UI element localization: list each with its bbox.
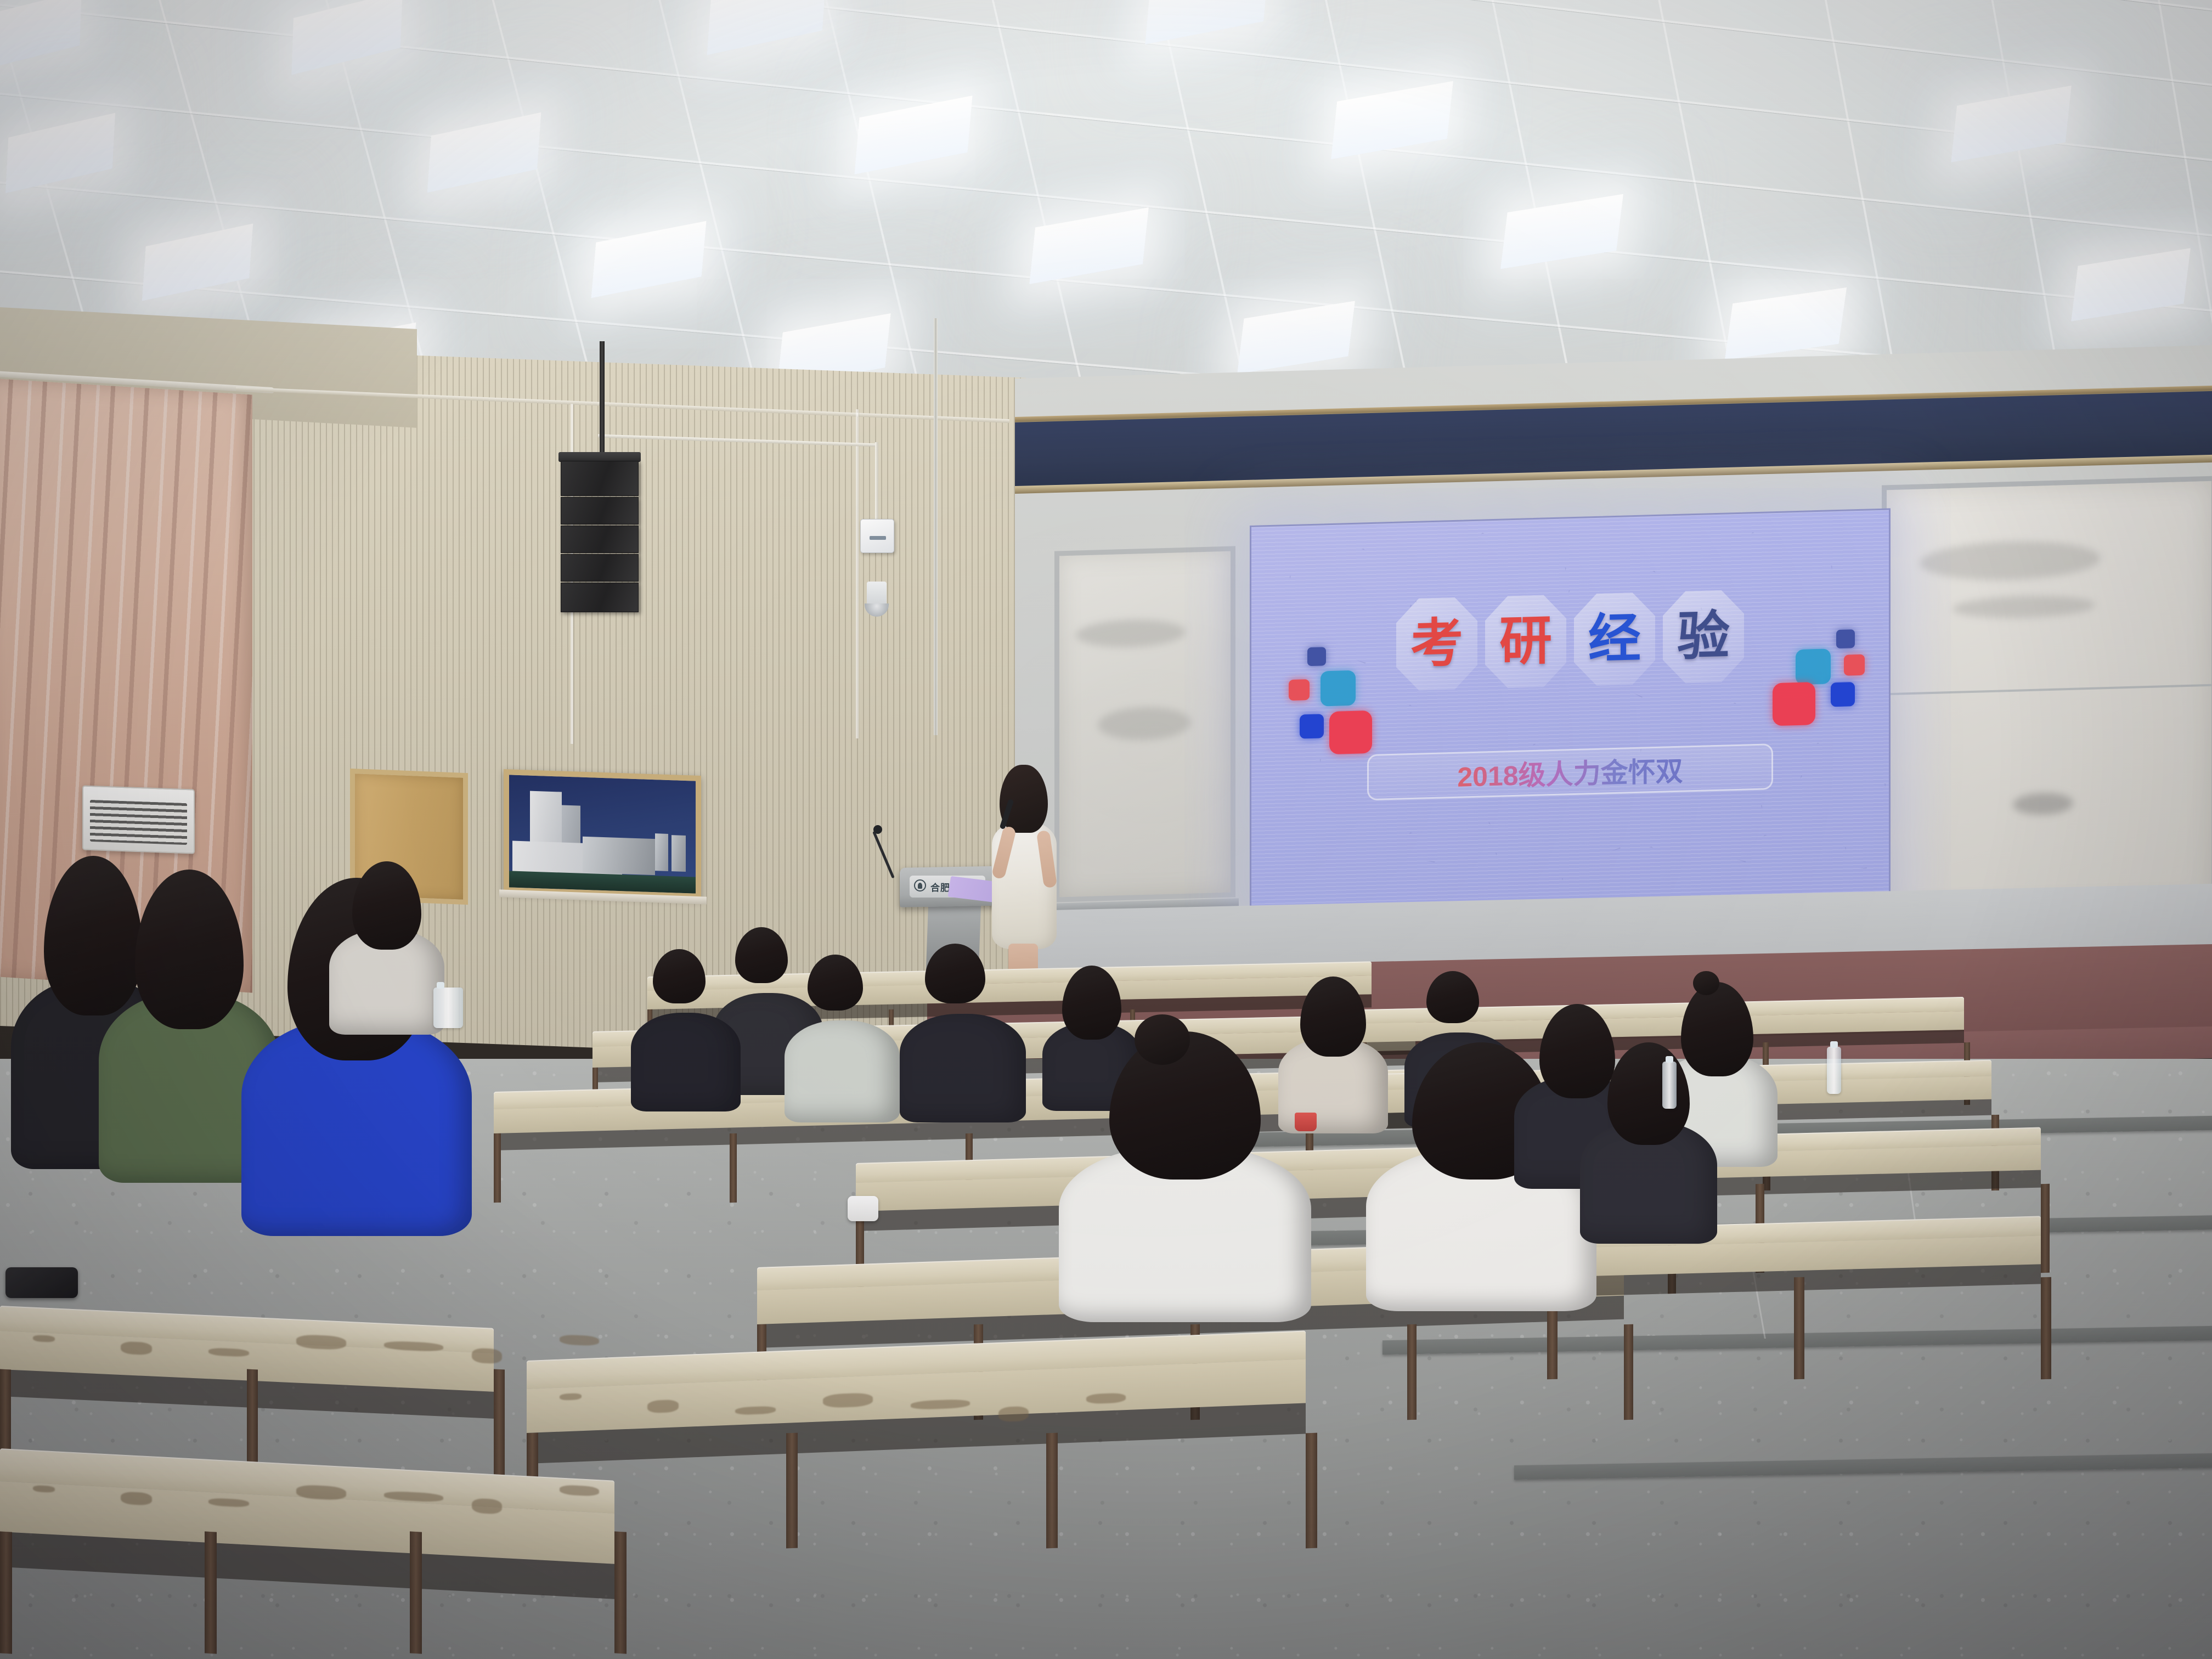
audience-member (329, 861, 444, 1031)
screen-deco-square (1300, 714, 1324, 738)
screen-deco-square (1289, 679, 1310, 701)
desk-leg (1624, 1324, 1633, 1420)
audience-head (1426, 971, 1479, 1023)
whiteboard-smudge (1076, 618, 1186, 649)
audience-head (735, 927, 788, 983)
desk-wear-mark (998, 1406, 1029, 1422)
desk-leg (786, 1433, 798, 1549)
microphone-head-icon (873, 825, 882, 834)
screen-title-hex-3: 经 (1574, 592, 1655, 686)
audience-member (1059, 1031, 1311, 1317)
screen-deco-square (1796, 648, 1831, 685)
audience-member (900, 944, 1026, 1119)
line-array-speaker (561, 461, 642, 614)
desk-leg (730, 1133, 737, 1203)
desk-leg (1046, 1433, 1058, 1549)
water-bottle (1662, 1062, 1677, 1109)
screen-deco-square (1844, 654, 1865, 676)
desk-leg (614, 1531, 627, 1654)
smartphone (5, 1267, 78, 1298)
wifi-access-point (860, 519, 894, 553)
desk-leg (494, 1369, 505, 1479)
audience-head (1607, 1042, 1690, 1145)
projection-screen[interactable]: 考研经验 2018级人力金怀双 (1250, 508, 1891, 932)
audience-torso (900, 1014, 1026, 1122)
building-block (583, 837, 655, 875)
audience-head (352, 861, 421, 950)
university-logo-icon (914, 879, 926, 891)
desk-leg (410, 1531, 422, 1654)
lecture-hall-photo: 考研经验 2018级人力金怀双 合肥工业大学 (0, 0, 2212, 1659)
screen-deco-square (1321, 670, 1356, 707)
speaker-module (561, 583, 639, 612)
screen-deco-square (1831, 682, 1855, 707)
hair-bun (1693, 971, 1719, 995)
whiteboard-smudge (1920, 539, 2101, 582)
speaker-module (561, 461, 639, 496)
audience-member (1580, 1042, 1717, 1240)
audience-member (785, 955, 900, 1119)
speaker-module (561, 554, 639, 582)
framed-campus-photo (504, 769, 701, 899)
screen-title-char: 验 (1677, 610, 1730, 664)
glass-jar (433, 988, 463, 1028)
screen-title-char: 研 (1499, 614, 1552, 669)
ceiling-drop-pole (934, 318, 938, 735)
whiteboard-smudge (1098, 706, 1191, 742)
desk-leg (2041, 1277, 2051, 1379)
speaker-module (561, 526, 639, 553)
screen-title-hex-2: 研 (1485, 594, 1566, 689)
screen-decoration-left (1283, 645, 1387, 769)
whiteboard-left (1054, 546, 1235, 902)
desk-wear-mark (472, 1498, 502, 1515)
desk-leg (1407, 1324, 1417, 1420)
audience-head (1300, 977, 1366, 1057)
desk-leg (1306, 1433, 1317, 1549)
screen-deco-square (1836, 629, 1855, 648)
audience-head (1062, 966, 1121, 1040)
desk-leg (1794, 1277, 1804, 1379)
screen-deco-square (1329, 710, 1372, 754)
audience-head (653, 949, 706, 1003)
paper-cup (1295, 1113, 1317, 1131)
audience-head (808, 955, 863, 1011)
water-bottle (1827, 1047, 1841, 1094)
screen-title-char: 考 (1410, 617, 1463, 671)
wall-conduit-drop (875, 442, 878, 519)
whiteboard-smudge (2013, 792, 2073, 816)
air-conditioner-vent (82, 785, 195, 854)
wall-panel-seam (856, 409, 859, 738)
screen-title-hex-4: 验 (1663, 590, 1744, 684)
desk-leg (494, 1133, 501, 1203)
speaker-module (561, 497, 639, 524)
desk-leg (2041, 1184, 2050, 1273)
desk-wear-mark (472, 1348, 502, 1364)
screen-title-char: 经 (1588, 612, 1641, 667)
screen-title-hex-1: 考 (1396, 597, 1477, 691)
screen-subtitle-text: 2018级人力金怀双 (1457, 749, 1683, 795)
building-distant (672, 835, 686, 872)
speaker-mount-rod (600, 341, 605, 463)
hair-bun (1135, 1014, 1190, 1065)
desk-leg (205, 1531, 217, 1654)
whiteboard-smudge (1953, 594, 2095, 620)
building-distant (655, 833, 668, 871)
screen-decoration-right (1762, 628, 1877, 752)
audience-member (631, 949, 741, 1108)
audience-head (135, 870, 244, 1029)
audience-head (925, 944, 985, 1003)
whiteboard-right (1882, 476, 2212, 918)
audience-torso (631, 1013, 741, 1111)
audience-torso (785, 1020, 900, 1122)
screen-deco-square (1773, 682, 1815, 726)
desk-leg (0, 1531, 12, 1654)
screen-deco-square (1307, 647, 1326, 666)
earbuds-case (848, 1196, 878, 1221)
